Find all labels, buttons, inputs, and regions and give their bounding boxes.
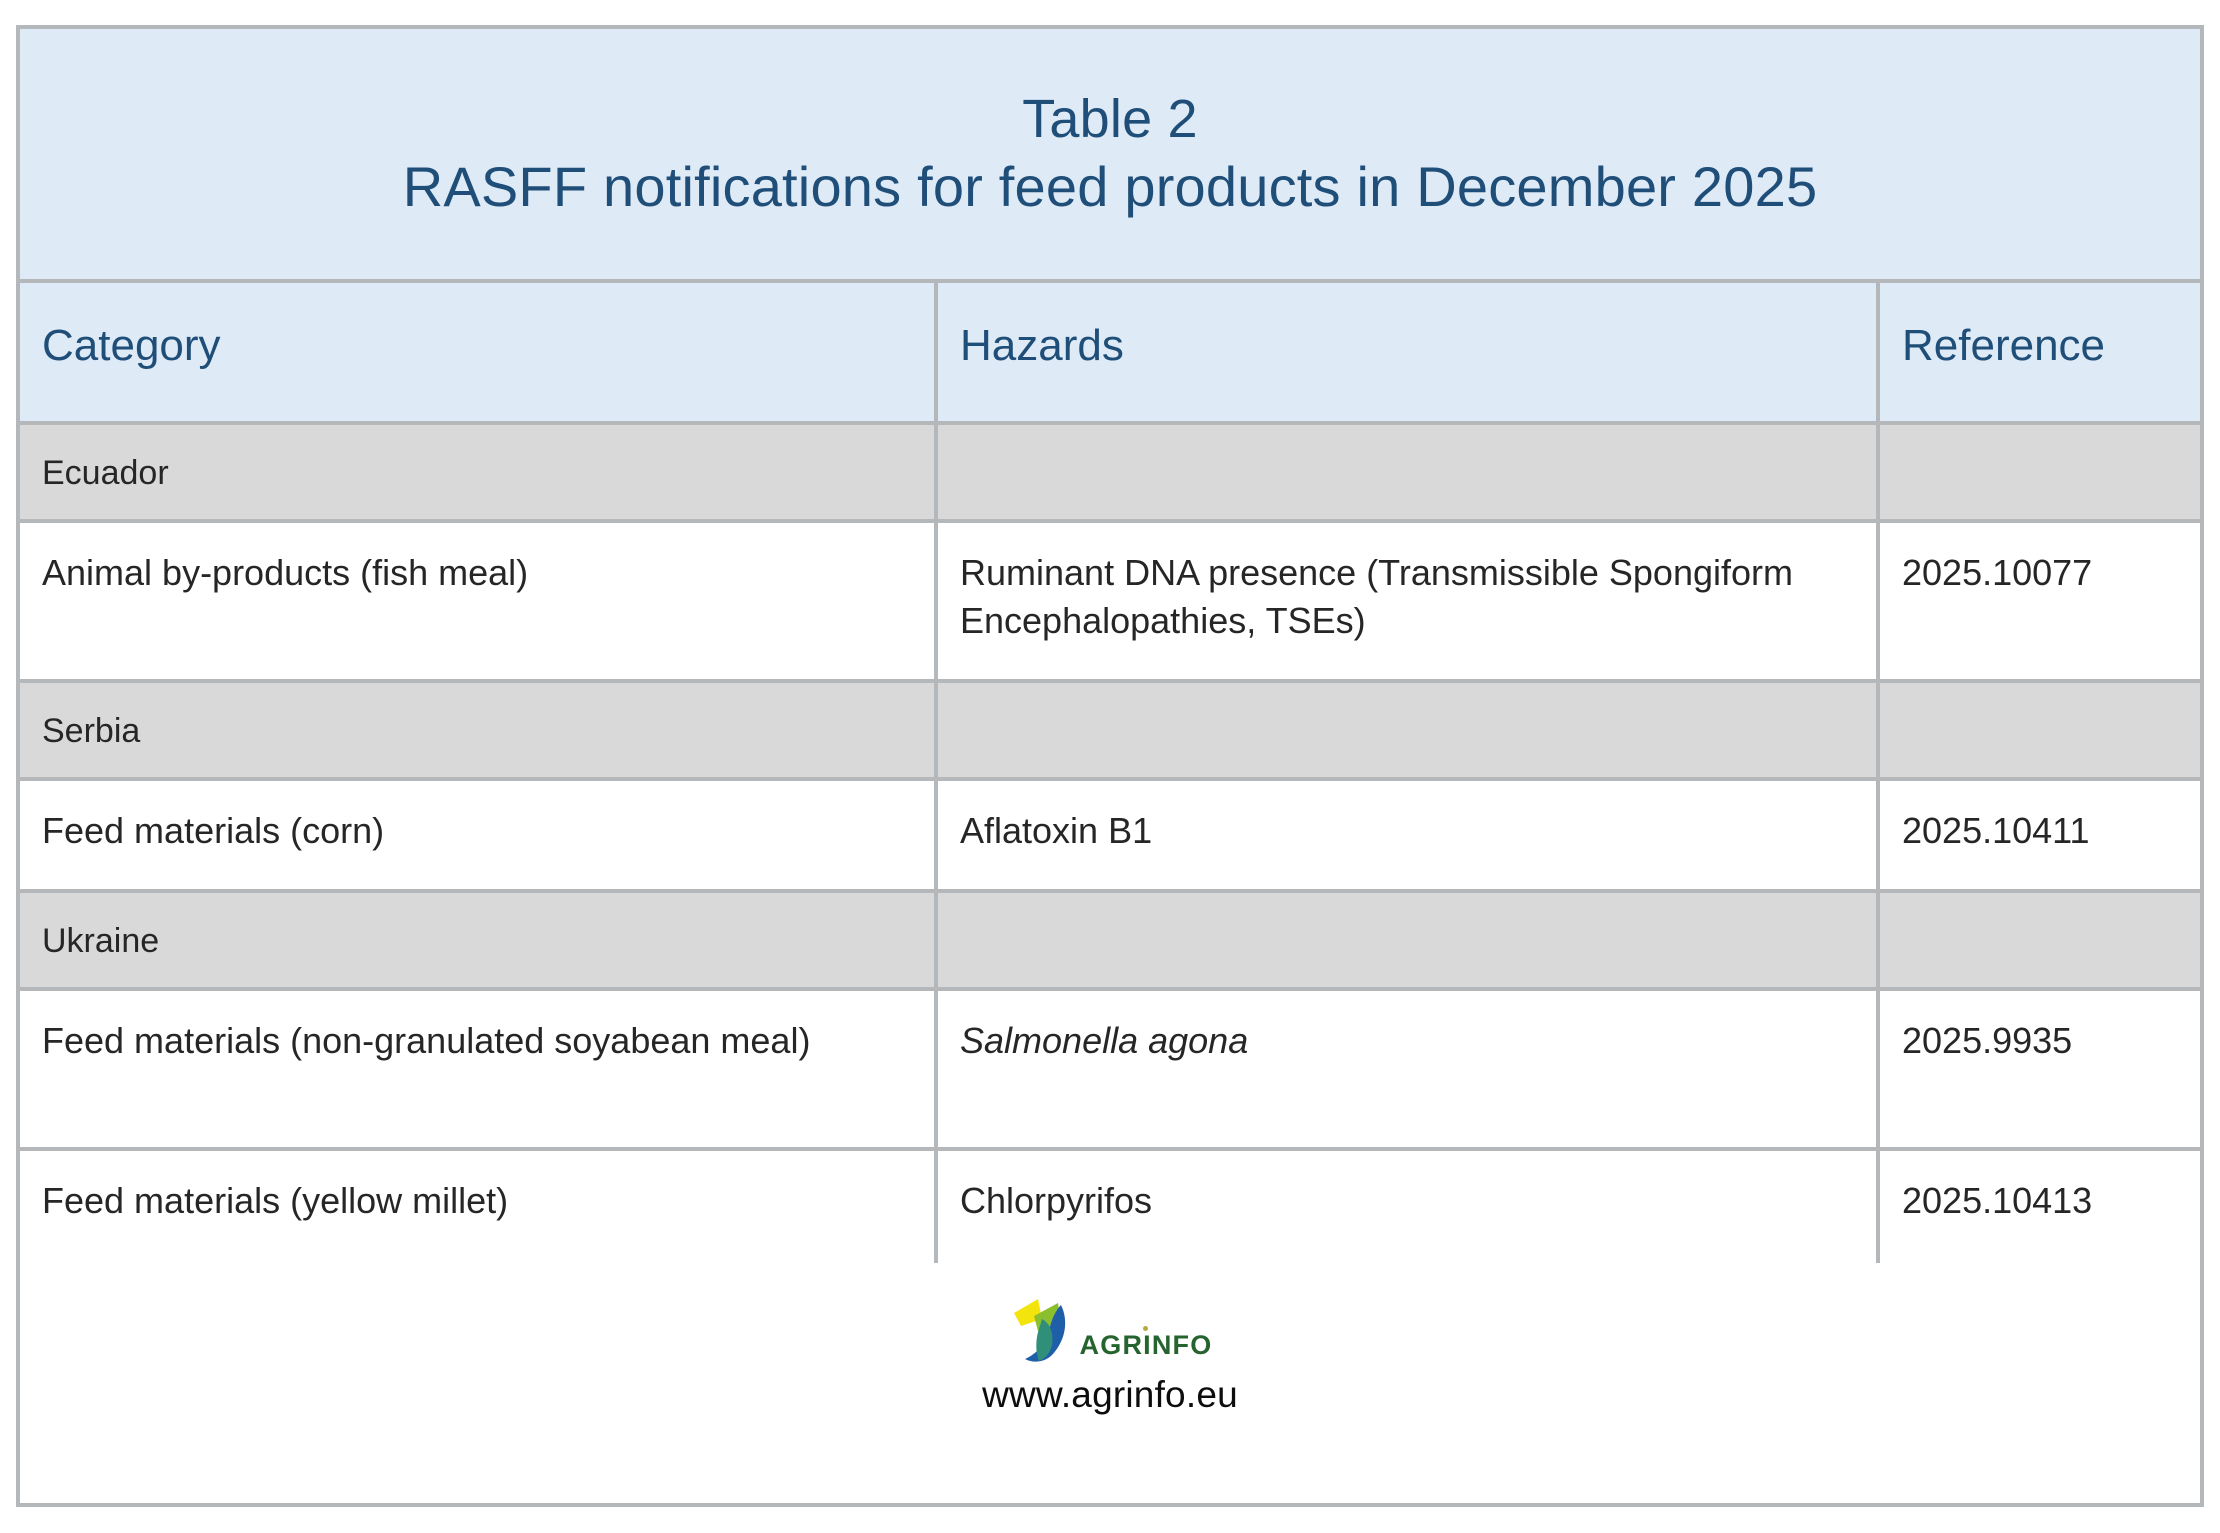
reference-cell: 2025.10413 <box>1880 1151 2200 1263</box>
column-header-hazards: Hazards <box>938 283 1880 421</box>
agrinfo-leaf-icon <box>1008 1293 1086 1367</box>
hazard-cell: Ruminant DNA presence (Transmissible Spo… <box>938 523 1880 679</box>
hazard-cell: Chlorpyrifos <box>938 1151 1880 1263</box>
reference-cell: 2025.10077 <box>1880 523 2200 679</box>
country-group-row: Serbia <box>20 683 2200 781</box>
agrinfo-wordmark: AGRINFO <box>1080 1330 1213 1361</box>
table-header-row: Category Hazards Reference <box>20 283 2200 425</box>
country-group-row: Ecuador <box>20 425 2200 523</box>
country-name-cell: Ukraine <box>20 893 938 987</box>
reference-cell <box>1880 683 2200 777</box>
table-number: Table 2 <box>1022 87 1198 153</box>
reference-cell <box>1880 893 2200 987</box>
reference-cell: 2025.10411 <box>1880 781 2200 889</box>
hazard-scientific-name: Salmonella agona <box>960 1020 1248 1061</box>
column-header-category: Category <box>20 283 938 421</box>
table-row: Feed materials (non-granulated soyabean … <box>20 991 2200 1151</box>
table-row: Feed materials (yellow millet)Chlorpyrif… <box>20 1151 2200 1263</box>
hazard-cell <box>938 893 1880 987</box>
country-group-row: Ukraine <box>20 893 2200 991</box>
table-row: Feed materials (corn)Aflatoxin B12025.10… <box>20 781 2200 893</box>
country-name-cell: Ecuador <box>20 425 938 519</box>
reference-cell: 2025.9935 <box>1880 991 2200 1147</box>
category-cell: Feed materials (yellow millet) <box>20 1151 938 1263</box>
agrinfo-url: www.agrinfo.eu <box>982 1374 1238 1416</box>
column-header-reference: Reference <box>1880 283 2200 421</box>
category-cell: Feed materials (corn) <box>20 781 938 889</box>
hazard-cell: Salmonella agona <box>938 991 1880 1147</box>
hazard-cell <box>938 425 1880 519</box>
hazard-cell: Aflatoxin B1 <box>938 781 1880 889</box>
category-cell: Animal by-products (fish meal) <box>20 523 938 679</box>
reference-cell <box>1880 425 2200 519</box>
table-title-block: Table 2 RASFF notifications for feed pro… <box>20 29 2200 283</box>
agrinfo-i-dot-icon <box>1143 1326 1148 1331</box>
agrinfo-logo: AGRINFO <box>1008 1293 1213 1367</box>
country-name-cell: Serbia <box>20 683 938 777</box>
hazard-cell <box>938 683 1880 777</box>
category-cell: Feed materials (non-granulated soyabean … <box>20 991 938 1147</box>
rasff-table: Table 2 RASFF notifications for feed pro… <box>16 25 2204 1507</box>
table-row: Animal by-products (fish meal)Ruminant D… <box>20 523 2200 683</box>
table-footer: AGRINFO www.agrinfo.eu <box>20 1263 2200 1441</box>
table-body: EcuadorAnimal by-products (fish meal)Rum… <box>20 425 2200 1263</box>
table-caption: RASFF notifications for feed products in… <box>403 153 1818 221</box>
